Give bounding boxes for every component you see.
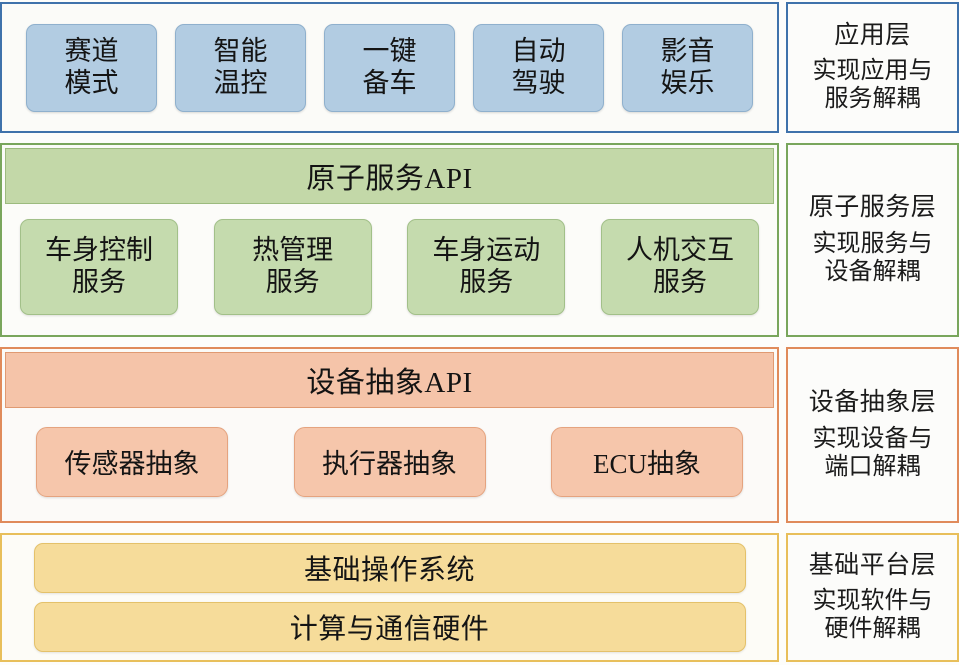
service-box-body-control-line2: 服务 (72, 267, 126, 298)
app-box-autonomous-driving-line1: 自动 (512, 36, 566, 67)
layered-architecture-diagram: 赛道 模式 智能 温控 一键 备车 自动 驾驶 影音 娱乐 (0, 0, 959, 665)
service-box-body-motion-line2: 服务 (459, 267, 513, 298)
service-box-body-control-line1: 车身控制 (45, 235, 153, 266)
platform-box-compute-comm-hardware[interactable]: 计算与通信硬件 (34, 602, 746, 652)
app-box-one-key-prep-line2: 备车 (363, 68, 417, 99)
app-box-smart-climate[interactable]: 智能 温控 (175, 24, 306, 112)
device-abstraction-layer-content: 设备抽象API 传感器抽象 执行器抽象 ECU抽象 (0, 347, 779, 523)
layer-basic-platform: 基础操作系统 计算与通信硬件 基础平台层 实现软件与 硬件解耦 (0, 533, 959, 662)
basic-platform-layer-title: 基础平台层 (809, 551, 937, 581)
device-box-ecu-abstraction[interactable]: ECU抽象 (551, 427, 743, 497)
device-abstraction-layer-descriptor: 设备抽象层 实现设备与 端口解耦 (786, 347, 959, 523)
app-box-smart-climate-line2: 温控 (214, 68, 268, 99)
device-abstraction-layer-desc: 实现设备与 端口解耦 (813, 426, 933, 482)
service-box-body-control[interactable]: 车身控制 服务 (20, 219, 178, 315)
basic-platform-layer-desc-line1: 实现软件与 (813, 588, 933, 616)
atomic-service-layer-content: 原子服务API 车身控制 服务 热管理 服务 车身运动 服务 人机交互 服务 (0, 143, 779, 337)
device-abstraction-layer-title: 设备抽象层 (809, 388, 937, 418)
device-abstraction-layer-desc-line2: 端口解耦 (813, 454, 933, 482)
atomic-service-api-band: 原子服务API (5, 148, 774, 204)
application-layer-desc-line2: 服务解耦 (813, 86, 933, 114)
layer-atomic-service: 原子服务API 车身控制 服务 热管理 服务 车身运动 服务 人机交互 服务 (0, 143, 959, 337)
platform-box-operating-system[interactable]: 基础操作系统 (34, 543, 746, 593)
application-layer-desc-line1: 实现应用与 (813, 58, 933, 86)
layer-application: 赛道 模式 智能 温控 一键 备车 自动 驾驶 影音 娱乐 (0, 2, 959, 133)
atomic-service-layer-desc: 实现服务与 设备解耦 (813, 231, 933, 287)
service-box-human-machine-interaction[interactable]: 人机交互 服务 (601, 219, 759, 315)
basic-platform-layer-desc-line2: 硬件解耦 (813, 616, 933, 644)
atomic-service-layer-title: 原子服务层 (809, 193, 937, 223)
app-box-one-key-prep-line1: 一键 (363, 36, 417, 67)
atomic-service-layer-descriptor: 原子服务层 实现服务与 设备解耦 (786, 143, 959, 337)
app-box-autonomous-driving-line2: 驾驶 (512, 68, 566, 99)
basic-platform-layer-descriptor: 基础平台层 实现软件与 硬件解耦 (786, 533, 959, 662)
atomic-service-layer-desc-line1: 实现服务与 (813, 231, 933, 259)
atomic-service-layer-desc-line2: 设备解耦 (813, 259, 933, 287)
service-box-thermal-management-line2: 服务 (266, 267, 320, 298)
device-abstraction-box-row: 传感器抽象 执行器抽象 ECU抽象 (2, 408, 777, 521)
application-layer-desc: 实现应用与 服务解耦 (813, 58, 933, 114)
service-box-thermal-management[interactable]: 热管理 服务 (214, 219, 372, 315)
device-abstraction-layer-desc-line1: 实现设备与 (813, 426, 933, 454)
application-layer-title: 应用层 (834, 21, 911, 51)
atomic-service-box-row: 车身控制 服务 热管理 服务 车身运动 服务 人机交互 服务 (2, 204, 777, 335)
application-layer-content: 赛道 模式 智能 温控 一键 备车 自动 驾驶 影音 娱乐 (0, 2, 779, 133)
service-box-human-machine-interaction-line2: 服务 (653, 267, 707, 298)
app-box-one-key-prep[interactable]: 一键 备车 (324, 24, 455, 112)
device-abstraction-api-band: 设备抽象API (5, 352, 774, 408)
app-box-track-mode-line2: 模式 (65, 68, 119, 99)
app-box-infotainment[interactable]: 影音 娱乐 (622, 24, 753, 112)
app-box-track-mode[interactable]: 赛道 模式 (26, 24, 157, 112)
app-box-track-mode-line1: 赛道 (65, 36, 119, 67)
layer-device-abstraction: 设备抽象API 传感器抽象 执行器抽象 ECU抽象 设备抽象层 实现设备与 端口… (0, 347, 959, 523)
app-box-smart-climate-line1: 智能 (214, 36, 268, 67)
basic-platform-layer-desc: 实现软件与 硬件解耦 (813, 588, 933, 644)
application-layer-descriptor: 应用层 实现应用与 服务解耦 (786, 2, 959, 133)
service-box-human-machine-interaction-line1: 人机交互 (626, 235, 734, 266)
app-box-infotainment-line2: 娱乐 (661, 68, 715, 99)
service-box-thermal-management-line1: 热管理 (252, 235, 333, 266)
device-box-sensor-abstraction[interactable]: 传感器抽象 (36, 427, 228, 497)
service-box-body-motion-line1: 车身运动 (432, 235, 540, 266)
service-box-body-motion[interactable]: 车身运动 服务 (407, 219, 565, 315)
application-box-row: 赛道 模式 智能 温控 一键 备车 自动 驾驶 影音 娱乐 (12, 24, 767, 112)
app-box-infotainment-line1: 影音 (661, 36, 715, 67)
basic-platform-layer-content: 基础操作系统 计算与通信硬件 (0, 533, 779, 662)
app-box-autonomous-driving[interactable]: 自动 驾驶 (473, 24, 604, 112)
device-box-actuator-abstraction[interactable]: 执行器抽象 (294, 427, 486, 497)
